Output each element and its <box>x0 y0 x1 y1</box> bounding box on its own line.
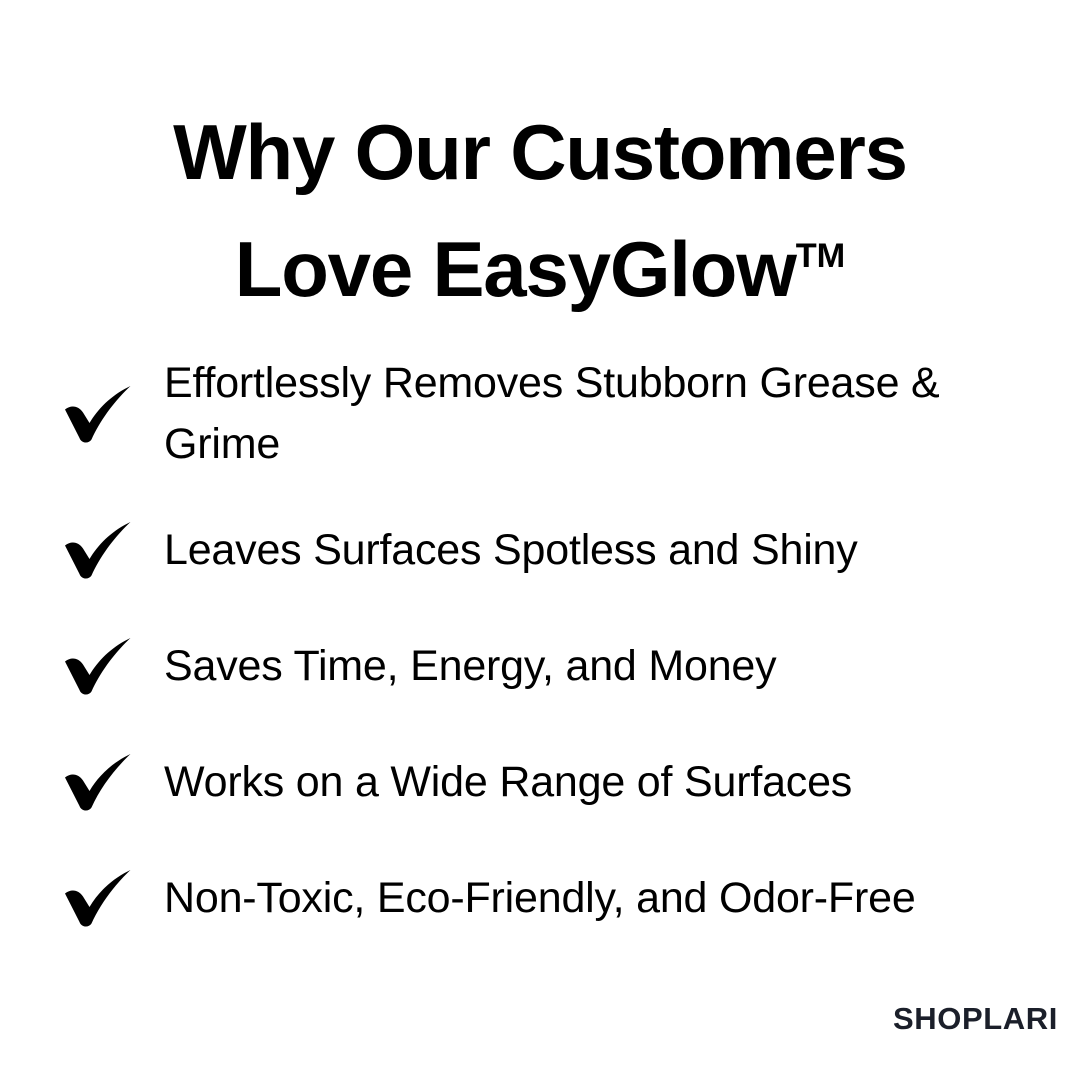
promo-poster: Why Our Customers Love EasyGlowTM Effort… <box>0 0 1080 1080</box>
list-item-label: Works on a Wide Range of Surfaces <box>164 752 852 813</box>
benefits-list: Effortlessly Removes Stubborn Grease & G… <box>0 350 1080 966</box>
list-item: Effortlessly Removes Stubborn Grease & G… <box>0 350 1080 478</box>
page-title-line-2-text: Love EasyGlow <box>235 225 796 313</box>
check-mark-icon <box>62 382 134 446</box>
list-item-label: Leaves Surfaces Spotless and Shiny <box>164 520 858 581</box>
brand-logo: SHOPLARI <box>893 1003 1058 1034</box>
list-item: Leaves Surfaces Spotless and Shiny <box>0 502 1080 598</box>
check-mark-icon <box>62 866 134 930</box>
list-item: Works on a Wide Range of Surfaces <box>0 734 1080 830</box>
page-title: Why Our Customers Love EasyGlowTM <box>0 100 1080 321</box>
list-item-label: Effortlessly Removes Stubborn Grease & G… <box>164 353 1044 475</box>
list-item-label: Saves Time, Energy, and Money <box>164 636 776 697</box>
check-mark-icon <box>62 518 134 582</box>
list-item: Saves Time, Energy, and Money <box>0 618 1080 714</box>
list-item-label: Non-Toxic, Eco-Friendly, and Odor-Free <box>164 868 916 929</box>
list-item: Non-Toxic, Eco-Friendly, and Odor-Free <box>0 850 1080 946</box>
check-mark-icon <box>62 750 134 814</box>
page-title-line-2: Love EasyGlowTM <box>0 204 1080 321</box>
trademark-symbol: TM <box>796 237 846 275</box>
check-mark-icon <box>62 634 134 698</box>
page-title-line-1: Why Our Customers <box>0 100 1080 204</box>
